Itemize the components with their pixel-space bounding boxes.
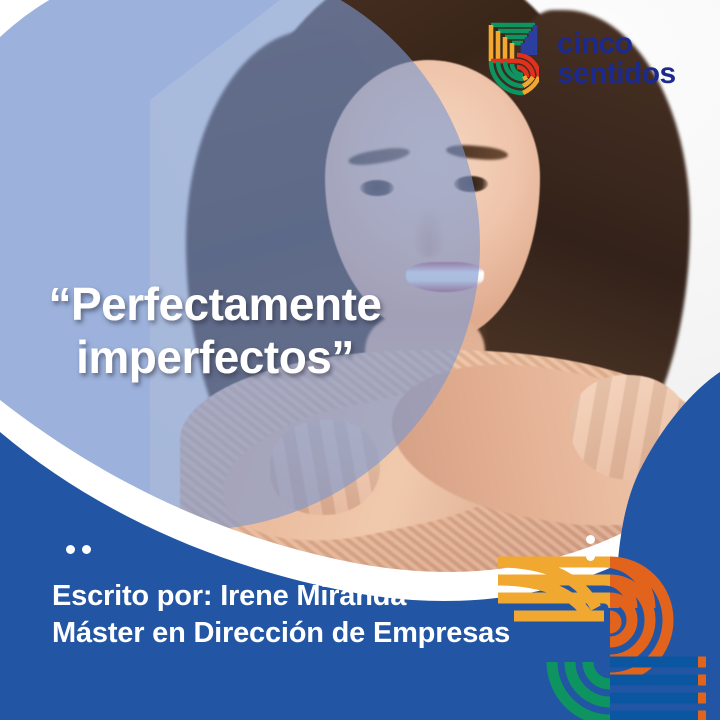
decorative-dots-left: [66, 545, 91, 554]
large-decorative-five-icon: [492, 550, 720, 720]
dot-icon: [66, 545, 75, 554]
brand-name-line1: cinco: [557, 29, 676, 59]
large-decorative-five: [492, 550, 720, 720]
author-line-2: Máster en Dirección de Empresas: [52, 615, 510, 652]
author-line-1: Escrito por: Irene Miranda: [52, 578, 510, 615]
decorative-dots-right: [586, 535, 595, 561]
brand-name-line2: sentidos: [557, 59, 676, 89]
brand-wordmark: cinco sentidos: [557, 29, 676, 89]
quote-headline: “Perfectamente imperfectos”: [0, 278, 430, 385]
stylized-number-five-logo-icon: [487, 21, 539, 97]
social-post-card: cinco sentidos “Perfectamente imperfecto…: [0, 0, 720, 720]
dot-icon: [82, 545, 91, 554]
author-credit: Escrito por: Irene Miranda Máster en Dir…: [52, 578, 510, 652]
dot-icon: [586, 552, 595, 561]
brand-logo[interactable]: cinco sentidos: [487, 21, 676, 97]
dot-icon: [586, 535, 595, 544]
quote-line-2: imperfectos”: [0, 331, 430, 384]
quote-line-1: “Perfectamente: [0, 278, 430, 331]
